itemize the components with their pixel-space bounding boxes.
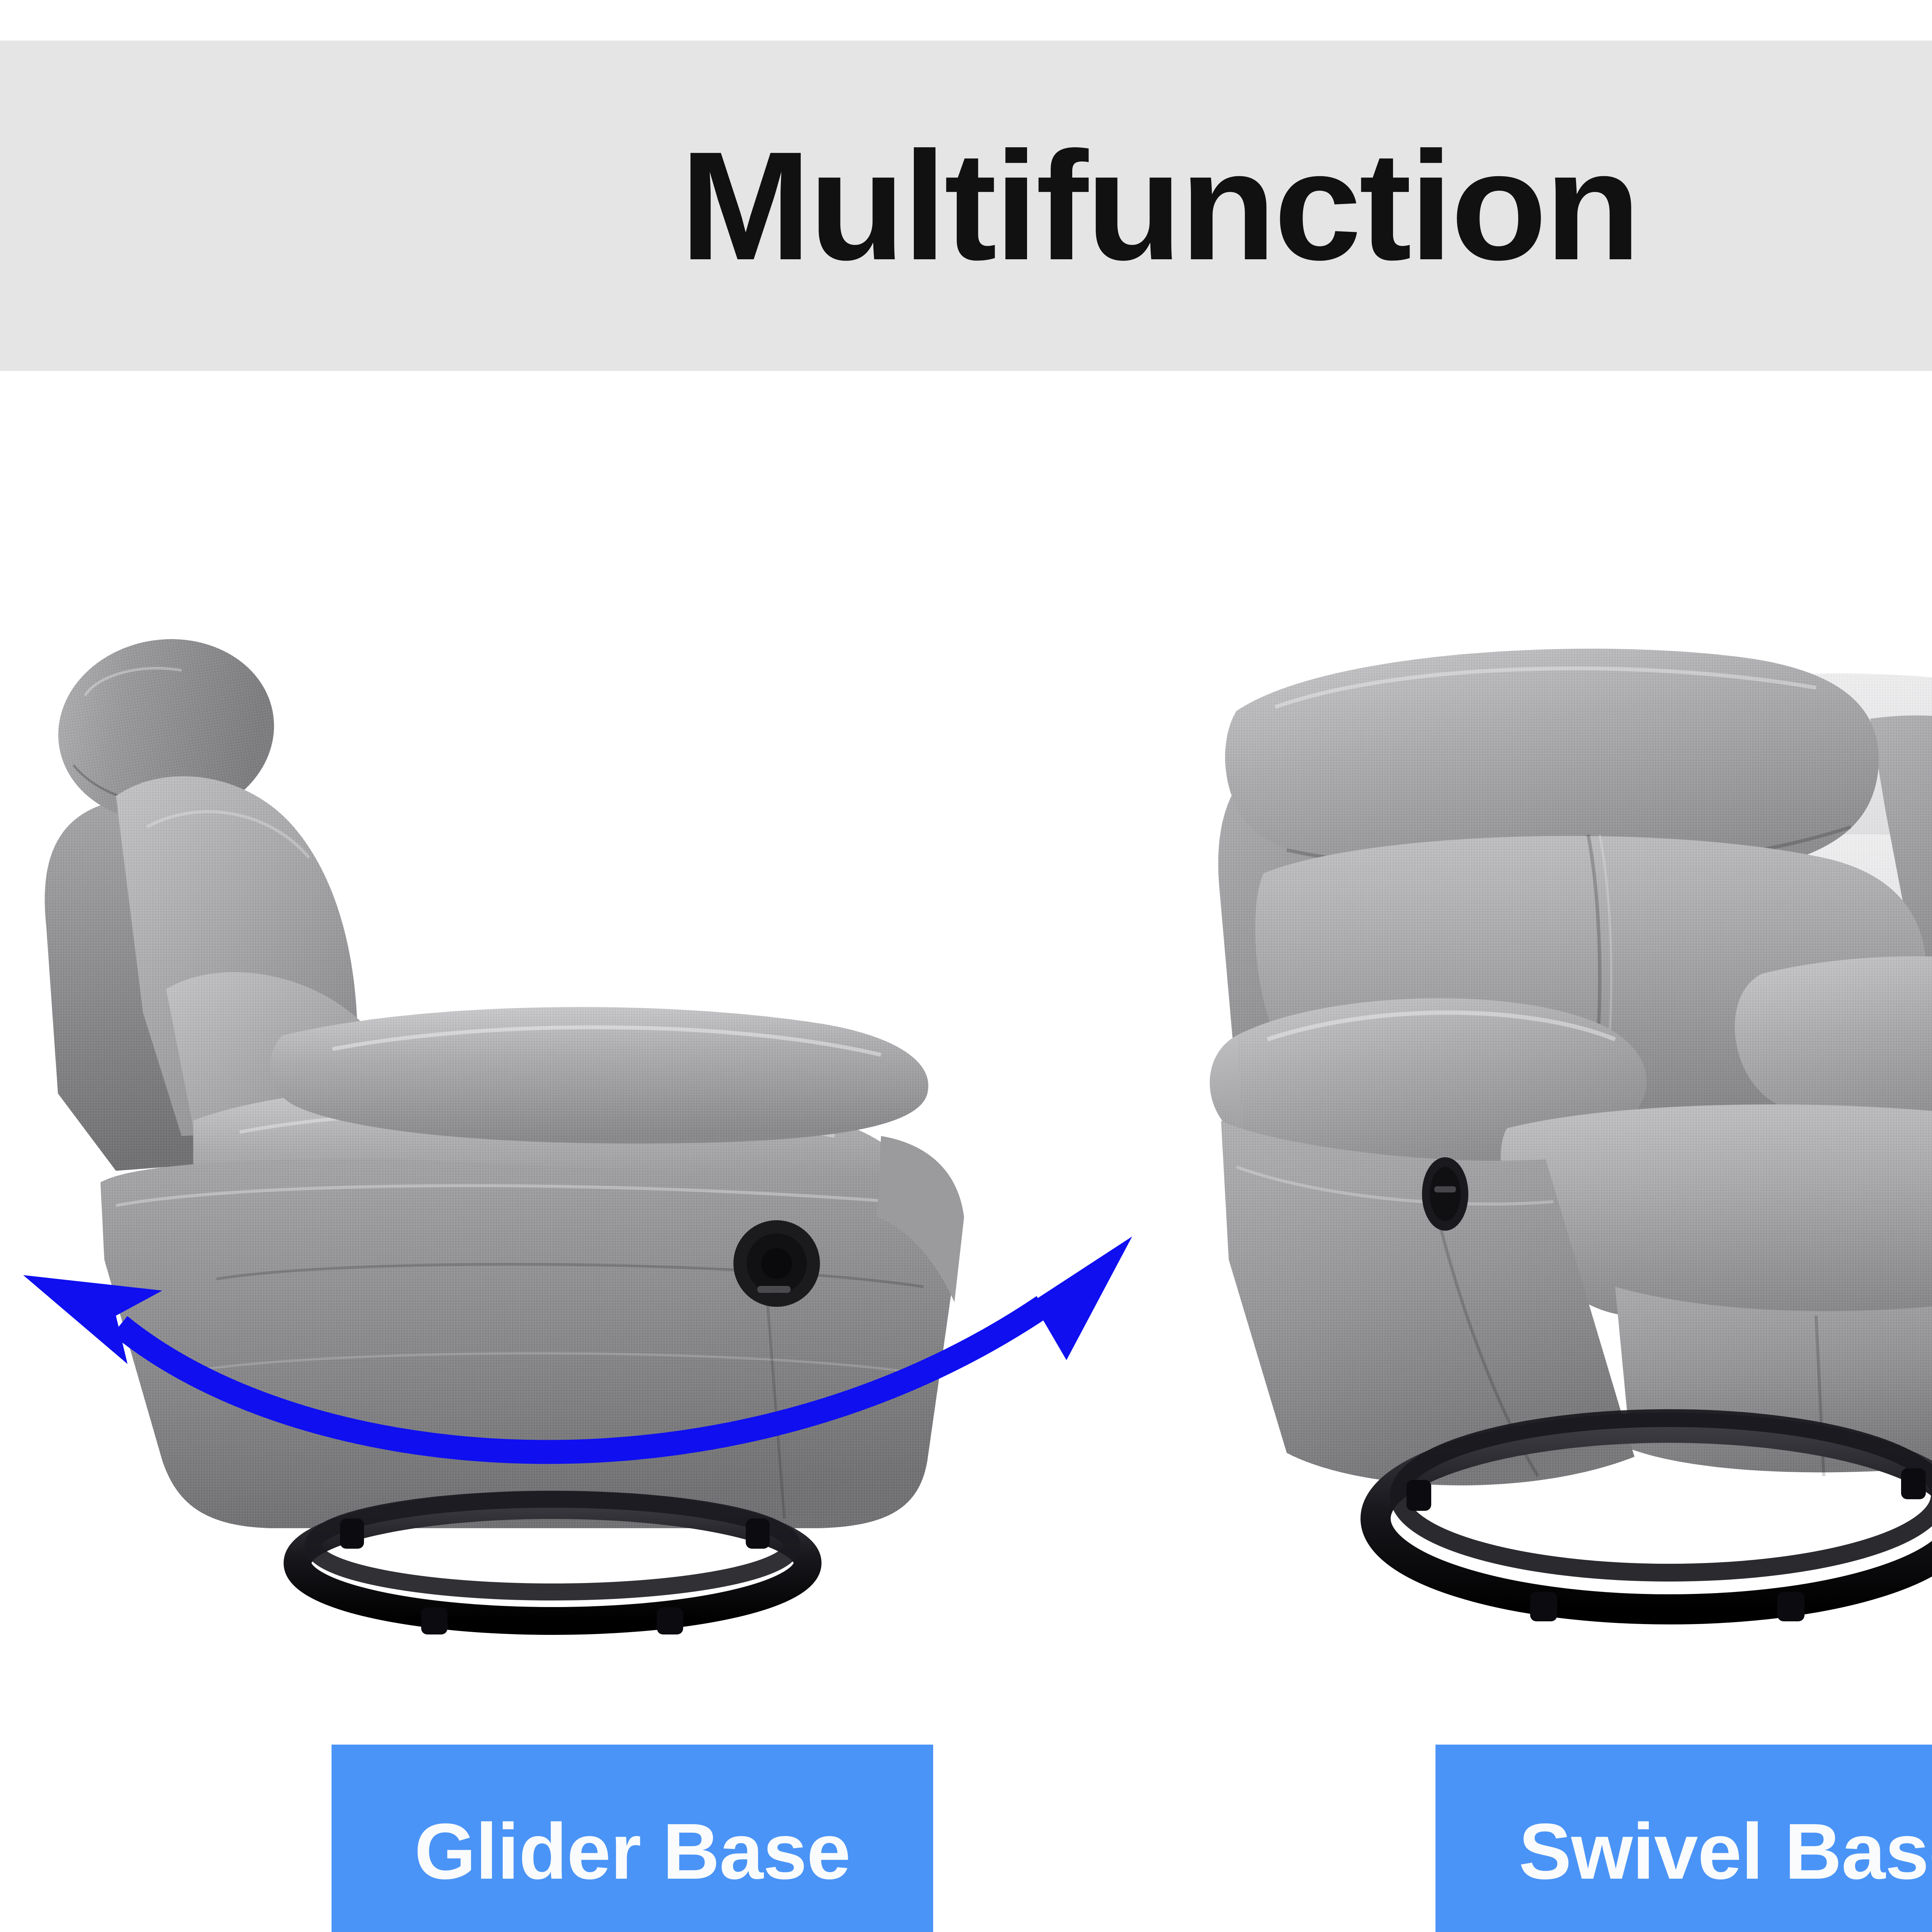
header-banner: Multifunction <box>0 41 1932 371</box>
label-swivel-base: Swivel Base <box>1519 1812 1932 1891</box>
panel-glider <box>0 580 1159 1700</box>
power-recliner-button[interactable] <box>1422 1157 1468 1231</box>
label-glider-base: Glider Base <box>414 1812 850 1891</box>
panel-swivel <box>1159 580 1932 1700</box>
label-box-swivel: Swivel Base <box>1435 1745 1932 1932</box>
label-box-glider: Glider Base <box>332 1745 933 1932</box>
page-title: Multifunction <box>680 129 1638 283</box>
infographic-page: Multifunction <box>0 0 1932 1932</box>
glider-chair-illustration <box>0 580 1159 1700</box>
swivel-chair-illustration <box>1159 580 1932 1700</box>
power-recliner-button[interactable] <box>733 1220 820 1307</box>
